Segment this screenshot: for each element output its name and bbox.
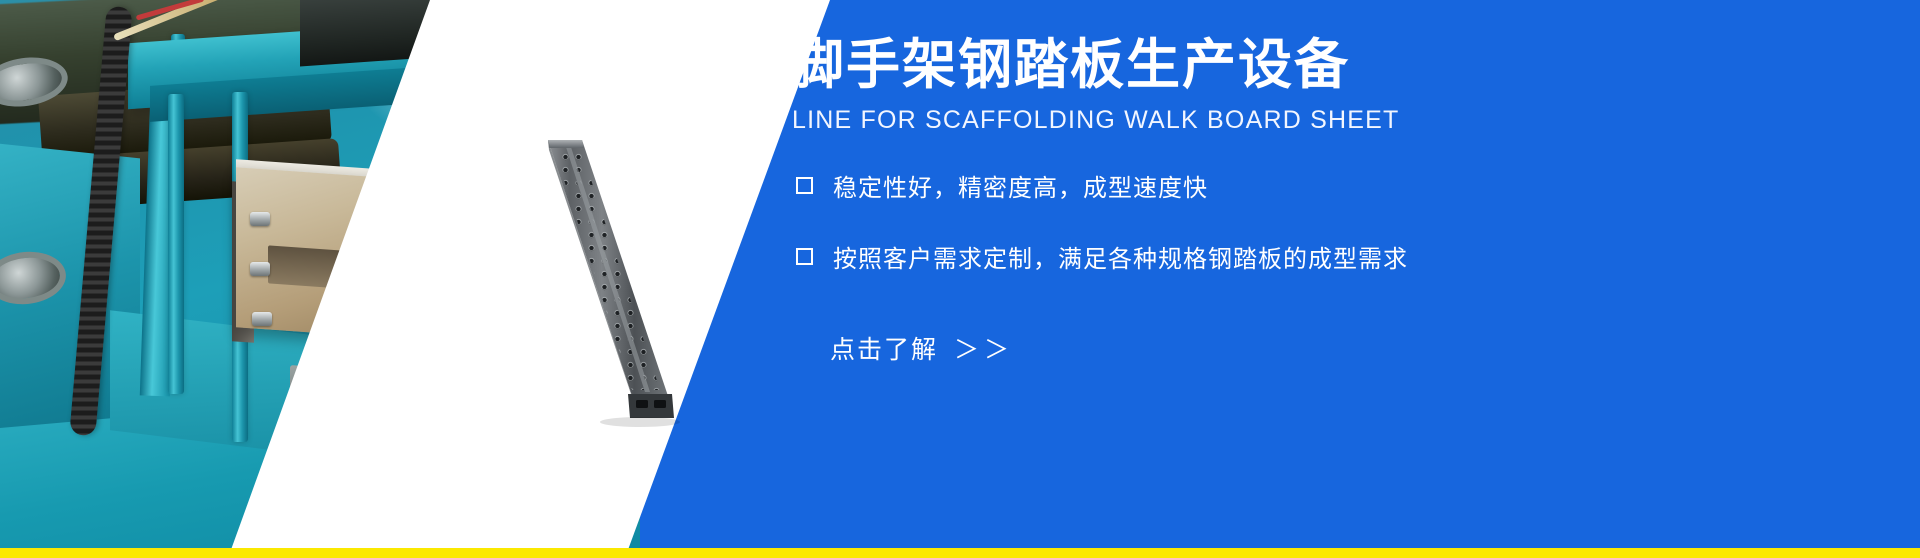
feature-item-label: 稳定性好，精密度高，成型速度快 xyxy=(833,168,1208,203)
machine-bolt xyxy=(252,312,272,326)
feature-list: 稳定性好，精密度高，成型速度快 按照客户需求定制，满足各种规格钢踏板的成型需求 xyxy=(796,168,1866,310)
feature-item: 按照客户需求定制，满足各种规格钢踏板的成型需求 xyxy=(796,239,1866,274)
feature-item-label: 按照客户需求定制，满足各种规格钢踏板的成型需求 xyxy=(833,239,1408,274)
banner-content: 脚手架钢踏板生产设备 LINE FOR SCAFFOLDING WALK BOA… xyxy=(790,0,1890,558)
banner-title: 脚手架钢踏板生产设备 xyxy=(790,32,1350,100)
learn-more-link[interactable]: 点击了解 ＞＞ xyxy=(830,330,1014,366)
product-photo-steel-plank xyxy=(520,138,690,428)
feature-item: 稳定性好，精密度高，成型速度快 xyxy=(796,168,1866,203)
learn-more-label: 点击了解 xyxy=(830,330,938,366)
checkbox-square-icon xyxy=(796,177,813,194)
machine-guide-post-a xyxy=(168,94,184,394)
promo-banner: 脚手架钢踏板生产设备 LINE FOR SCAFFOLDING WALK BOA… xyxy=(0,0,1920,558)
checkbox-square-icon xyxy=(796,248,813,265)
machine-bolt xyxy=(250,262,270,276)
double-chevron-right-icon: ＞＞ xyxy=(954,330,1014,366)
banner-subtitle: LINE FOR SCAFFOLDING WALK BOARD SHEET xyxy=(792,106,1399,135)
machine-bolt xyxy=(250,212,270,226)
accent-bottom-strip xyxy=(0,548,1920,558)
